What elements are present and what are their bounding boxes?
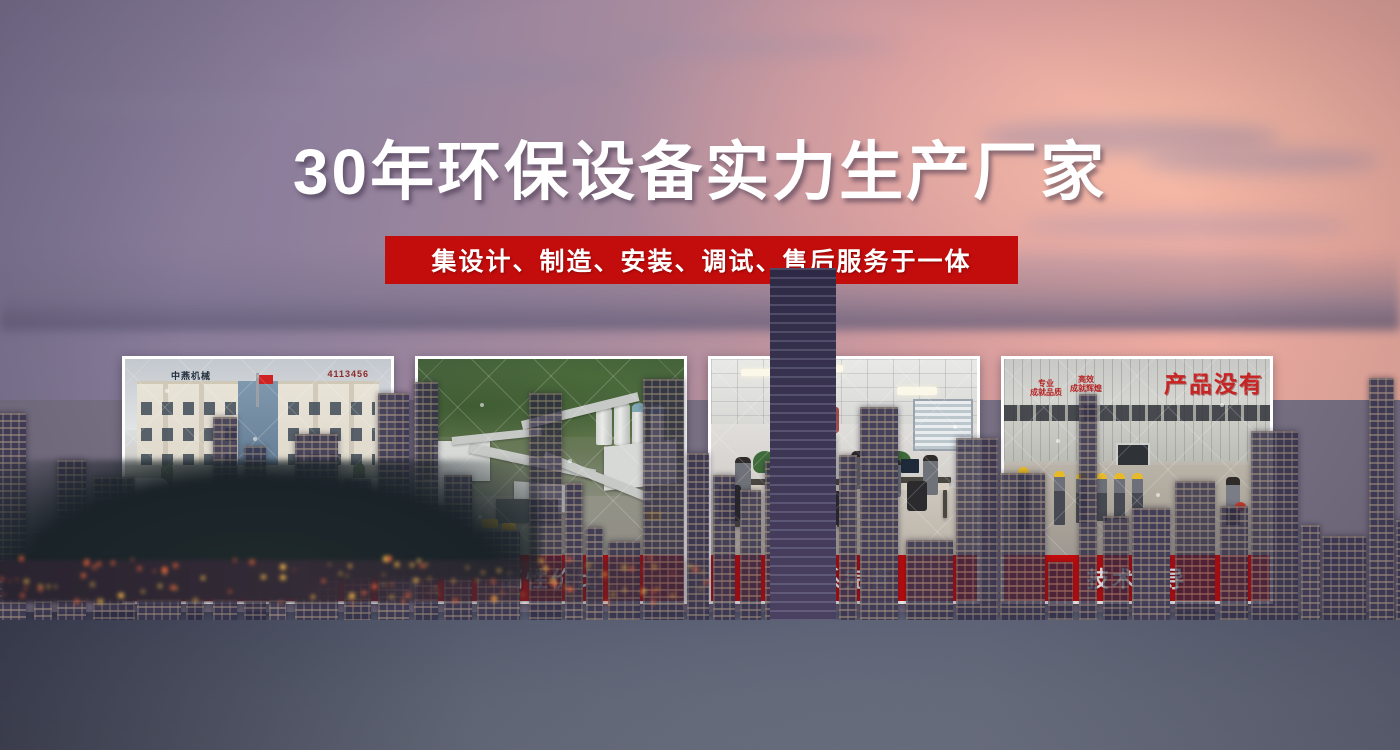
subtitle-text: 集设计、制造、安装、调试、售后服务于一体 (431, 242, 971, 278)
skyline-building (1301, 525, 1320, 620)
riverbank (0, 560, 760, 602)
shore-light (293, 569, 295, 571)
skyline-building (1396, 520, 1400, 620)
shore-light (20, 593, 24, 597)
shore-light (425, 563, 428, 566)
shore-light (395, 562, 400, 567)
shore-light (621, 565, 626, 570)
shore-light (362, 591, 366, 595)
shore-light (47, 585, 50, 588)
skyline-building (956, 438, 998, 620)
shore-light (652, 564, 657, 569)
building-phone-text: 4113456 (327, 369, 369, 379)
shore-light (81, 573, 86, 578)
shore-light (647, 556, 652, 561)
skyline-building (1132, 508, 1170, 620)
shore-light (491, 596, 495, 600)
skyline-building (906, 540, 953, 620)
page-title: 30年环保设备实力生产厂家 (0, 136, 1400, 208)
shore-light (24, 579, 29, 584)
shore-light (346, 574, 349, 577)
subtitle-banner: 集设计、制造、安装、调试、售后服务于一体 (385, 236, 1018, 284)
shore-light (280, 564, 286, 570)
landmark-tower (770, 268, 836, 620)
shore-light (567, 587, 573, 593)
shore-light (602, 572, 606, 576)
shore-light (702, 570, 704, 572)
shore-light (428, 577, 431, 580)
shore-light (228, 590, 231, 593)
wall-slogan-large: 产品没有 (1164, 365, 1264, 399)
skyline-building (1103, 516, 1129, 620)
shore-light (688, 564, 693, 569)
shore-light (563, 585, 566, 588)
shore-light (85, 559, 89, 563)
shore-light (280, 575, 285, 580)
shore-light (611, 586, 613, 588)
shore-light (97, 562, 101, 566)
skyline-building (1048, 562, 1073, 620)
shore-light (652, 602, 655, 605)
shore-light (170, 585, 175, 590)
skyline-building (839, 455, 857, 620)
skyline-building (860, 407, 898, 620)
shore-light (90, 582, 95, 587)
shore-light (693, 567, 698, 572)
shore-light (417, 559, 421, 563)
skyline-building (1220, 506, 1248, 620)
shore-light (322, 579, 325, 582)
shore-light (141, 590, 144, 593)
shore-light (261, 575, 266, 580)
shore-light (111, 561, 114, 564)
shore-light (92, 564, 97, 569)
shore-light (476, 579, 479, 582)
shore-light (137, 566, 142, 571)
skyline-building (1369, 378, 1394, 620)
shore-light (382, 573, 384, 575)
shore-light (501, 591, 504, 594)
shore-light (390, 583, 393, 586)
building-sign-text: 中燕机械 (171, 369, 211, 382)
shore-light (508, 572, 511, 575)
shore-light (402, 599, 405, 602)
shore-light (704, 580, 709, 585)
shore-light (249, 559, 255, 565)
shore-light (452, 579, 456, 583)
shore-light (173, 563, 178, 568)
shore-light (405, 592, 411, 598)
shore-light (543, 566, 547, 570)
shore-light (372, 584, 377, 589)
skyline-building (1251, 431, 1298, 620)
skyline-building (1175, 481, 1215, 620)
shore-light (429, 591, 431, 593)
shore-light (311, 595, 314, 598)
skyline-building (1079, 394, 1097, 620)
shore-light (75, 599, 79, 603)
shore-light (491, 579, 496, 584)
shore-light (54, 585, 57, 588)
shore-light (0, 577, 4, 581)
shore-light (349, 593, 355, 599)
shore-light (623, 588, 626, 591)
shore-light (586, 563, 591, 568)
skyline-building (1000, 473, 1045, 620)
promo-banner: 30年环保设备实力生产厂家 集设计、制造、安装、调试、售后服务于一体 (0, 0, 1400, 750)
shore-light (38, 584, 43, 589)
shore-light (158, 584, 162, 588)
flag-pole (256, 373, 259, 407)
shore-light (279, 601, 282, 604)
shore-light (85, 599, 88, 602)
shore-light (670, 593, 675, 598)
skyline-building (1322, 536, 1366, 620)
